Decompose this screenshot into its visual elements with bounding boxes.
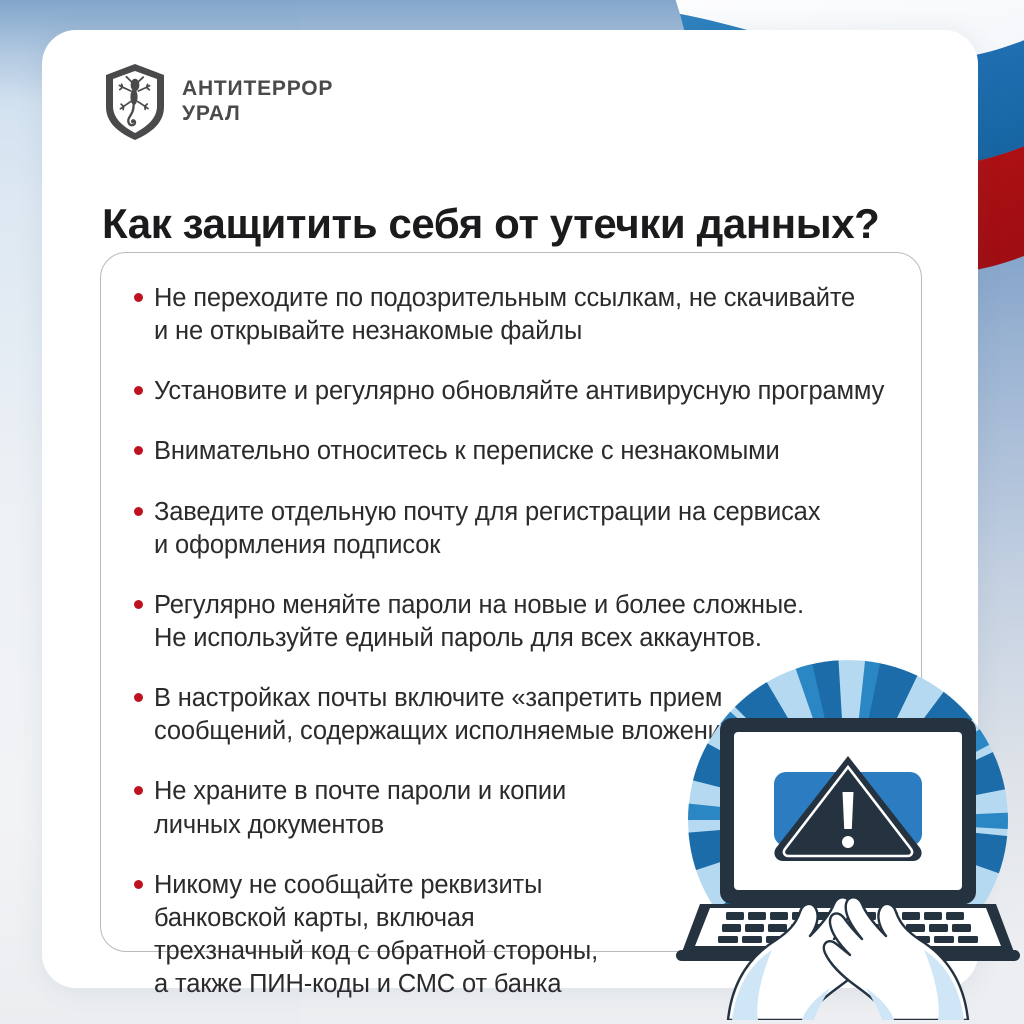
list-item-line: и не открывайте незнакомые файлы <box>154 315 924 348</box>
brand-logo-line-2: УРАЛ <box>182 102 333 127</box>
page-title: Как защитить себя от утечки данных? <box>102 200 932 248</box>
list-item-line: банковской карты, включая <box>154 902 624 935</box>
bullet-dot-icon <box>134 786 143 795</box>
brand-logo: АНТИТЕРРОР УРАЛ <box>104 63 333 141</box>
shield-lizard-emblem-icon <box>104 63 166 141</box>
list-item-line: а также ПИН-коды и СМС от банка <box>154 968 624 1001</box>
bullet-dot-icon <box>134 600 143 609</box>
list-item-line: Заведите отдельную почту для регистрации… <box>154 496 924 529</box>
brand-logo-wordmark: АНТИТЕРРОР УРАЛ <box>182 77 333 127</box>
list-item-line: трехзначный код с обратной стороны, <box>154 935 624 968</box>
bullet-dot-icon <box>134 507 143 516</box>
bullet-dot-icon <box>134 293 143 302</box>
brand-logo-line-1: АНТИТЕРРОР <box>182 77 333 102</box>
bullet-dot-icon <box>134 386 143 395</box>
list-item: Не переходите по подозрительным ссылкам,… <box>134 282 924 348</box>
list-item: Установите и регулярно обновляйте антиви… <box>134 375 924 408</box>
bullet-dot-icon <box>134 693 143 702</box>
list-item-line: Не переходите по подозрительным ссылкам,… <box>154 282 924 315</box>
list-item: Заведите отдельную почту для регистрации… <box>134 496 924 562</box>
list-item: Внимательно относитесь к переписке с нез… <box>134 435 924 468</box>
list-item: Регулярно меняйте пароли на новые и боле… <box>134 589 924 655</box>
laptop-warning-hands-illustration <box>670 652 1024 1020</box>
list-item-line: Регулярно меняйте пароли на новые и боле… <box>154 589 924 622</box>
list-item: Никому не сообщайте реквизитыбанковской … <box>134 869 624 1002</box>
bullet-dot-icon <box>134 446 143 455</box>
infographic-poster: АНТИТЕРРОР УРАЛ Как защитить себя от уте… <box>0 0 1024 1024</box>
list-item-line: Внимательно относитесь к переписке с нез… <box>154 435 924 468</box>
bullet-dot-icon <box>134 880 143 889</box>
list-item-line: Никому не сообщайте реквизиты <box>154 869 624 902</box>
list-item-line: Не используйте единый пароль для всех ак… <box>154 622 924 655</box>
list-item: Не храните в почте пароли и копииличных … <box>134 775 624 841</box>
list-item-line: Не храните в почте пароли и копии <box>154 775 624 808</box>
list-item-line: личных документов <box>154 809 624 842</box>
exclamation-mark <box>842 792 854 848</box>
list-item-line: Установите и регулярно обновляйте антиви… <box>154 375 924 408</box>
content-card: АНТИТЕРРОР УРАЛ Как защитить себя от уте… <box>42 30 978 988</box>
list-item-line: и оформления подписок <box>154 529 924 562</box>
